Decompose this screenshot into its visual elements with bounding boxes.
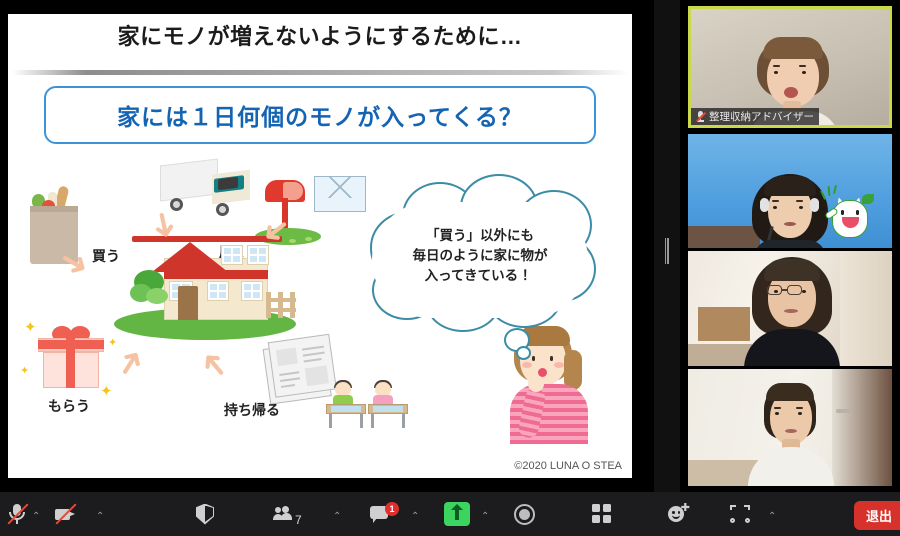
question-callout-text: 家には１日何個のモノが入ってくる？ — [117, 98, 523, 132]
participants-button[interactable]: 7 — [273, 496, 295, 532]
video-button[interactable] — [54, 496, 76, 532]
record-icon — [514, 504, 535, 525]
participants-chevron-icon[interactable]: ⌃ — [333, 511, 341, 522]
participants-count: 7 — [295, 513, 302, 527]
chat-icon: 1 — [370, 506, 390, 522]
question-callout-box: 家には１日何個のモノが入ってくる？ — [44, 86, 596, 144]
presentation-slide: 家にモノが増えないようにするために… 家には１日何個のモノが入ってくる？ 買う — [8, 14, 632, 478]
participant-tile-1[interactable]: 整理収納アドバイザー — [688, 6, 892, 128]
mic-muted-icon — [696, 111, 705, 122]
mic-options-chevron-icon[interactable]: ⌃ — [32, 511, 40, 522]
kids-at-desks-icon — [326, 380, 414, 440]
participant-3-video — [750, 257, 834, 365]
chat-unread-badge: 1 — [385, 502, 399, 516]
participant-4-video — [750, 383, 830, 486]
participant-tile-2[interactable] — [688, 134, 892, 248]
breakout-rooms-button[interactable] — [730, 496, 750, 532]
breakout-rooms-icon — [730, 505, 750, 523]
flow-arrow-receive: ➜ — [108, 342, 152, 384]
participant-1-name: 整理収納アドバイザー — [709, 109, 814, 124]
cat-mascot-icon — [826, 188, 874, 240]
flow-arrow-bring-home: ➜ — [192, 343, 236, 387]
participant-1-name-bar: 整理収納アドバイザー — [691, 108, 819, 125]
label-bring-home: 持ち帰る — [224, 400, 280, 420]
meeting-toolbar: ⌃ ⌃ 7 ⌃ 1 ⌃ ⌃ — [0, 492, 900, 536]
reactions-smiley-icon: ✚ — [668, 504, 690, 524]
thought-bubble-text: 「買う」以外にも 毎日のように家に物が 入ってきている ！ — [380, 226, 580, 286]
label-buy: 買う — [92, 246, 120, 266]
participant-tile-3[interactable] — [688, 251, 892, 366]
reactions-button[interactable]: ✚ — [668, 496, 690, 532]
share-screen-button[interactable] — [444, 496, 470, 532]
slide-diagram: 買う 届く — [8, 150, 632, 478]
apps-button[interactable] — [592, 496, 612, 532]
participants-icon: 7 — [273, 506, 295, 522]
label-receive: もらう — [48, 396, 90, 416]
mic-muted-icon — [6, 503, 28, 525]
record-button[interactable] — [514, 496, 535, 532]
security-button[interactable] — [196, 496, 214, 532]
participant-tile-4[interactable] — [688, 369, 892, 486]
share-chevron-icon[interactable]: ⌃ — [481, 511, 489, 522]
camera-off-icon — [54, 503, 76, 525]
gift-box-icon — [38, 326, 104, 388]
sparkle-icon: ✦ — [100, 382, 113, 400]
apps-grid-icon — [592, 504, 612, 524]
breakout-chevron-icon[interactable]: ⌃ — [768, 511, 776, 522]
participant-video-strip: 整理収納アドバイザー — [680, 0, 900, 492]
zoom-meeting-window: 家にモノが増えないようにするために… 家には１日何個のモノが入ってくる？ 買う — [0, 0, 900, 536]
drag-handle-icon[interactable] — [665, 238, 669, 264]
house-illustration — [118, 234, 293, 344]
share-screen-icon — [444, 502, 470, 526]
slide-title: 家にモノが増えないようにするために… — [8, 22, 632, 52]
title-divider-rule — [12, 70, 628, 75]
thought-bubble-dot — [516, 346, 531, 360]
participant-2-video — [752, 174, 828, 248]
leave-meeting-button[interactable]: 退出 — [854, 501, 900, 530]
video-options-chevron-icon[interactable]: ⌃ — [96, 511, 104, 522]
sparkle-icon: ✦ — [20, 364, 29, 377]
mic-button[interactable] — [6, 496, 28, 532]
shared-screen-stage[interactable]: 家にモノが増えないようにするために… 家には１日何個のモノが入ってくる？ 買う — [0, 0, 660, 492]
chat-chevron-icon[interactable]: ⌃ — [411, 511, 419, 522]
chat-button[interactable]: 1 — [370, 496, 390, 532]
thought-bubble: 「買う」以外にも 毎日のように家に物が 入ってきている ！ — [356, 174, 604, 350]
shield-icon — [196, 504, 214, 525]
panel-resize-divider[interactable] — [654, 0, 680, 492]
sparkle-icon: ✦ — [24, 318, 37, 336]
slide-copyright: ©2020 LUNA O STEA — [514, 460, 622, 472]
slide-title-bar: 家にモノが増えないようにするために… — [8, 14, 632, 62]
